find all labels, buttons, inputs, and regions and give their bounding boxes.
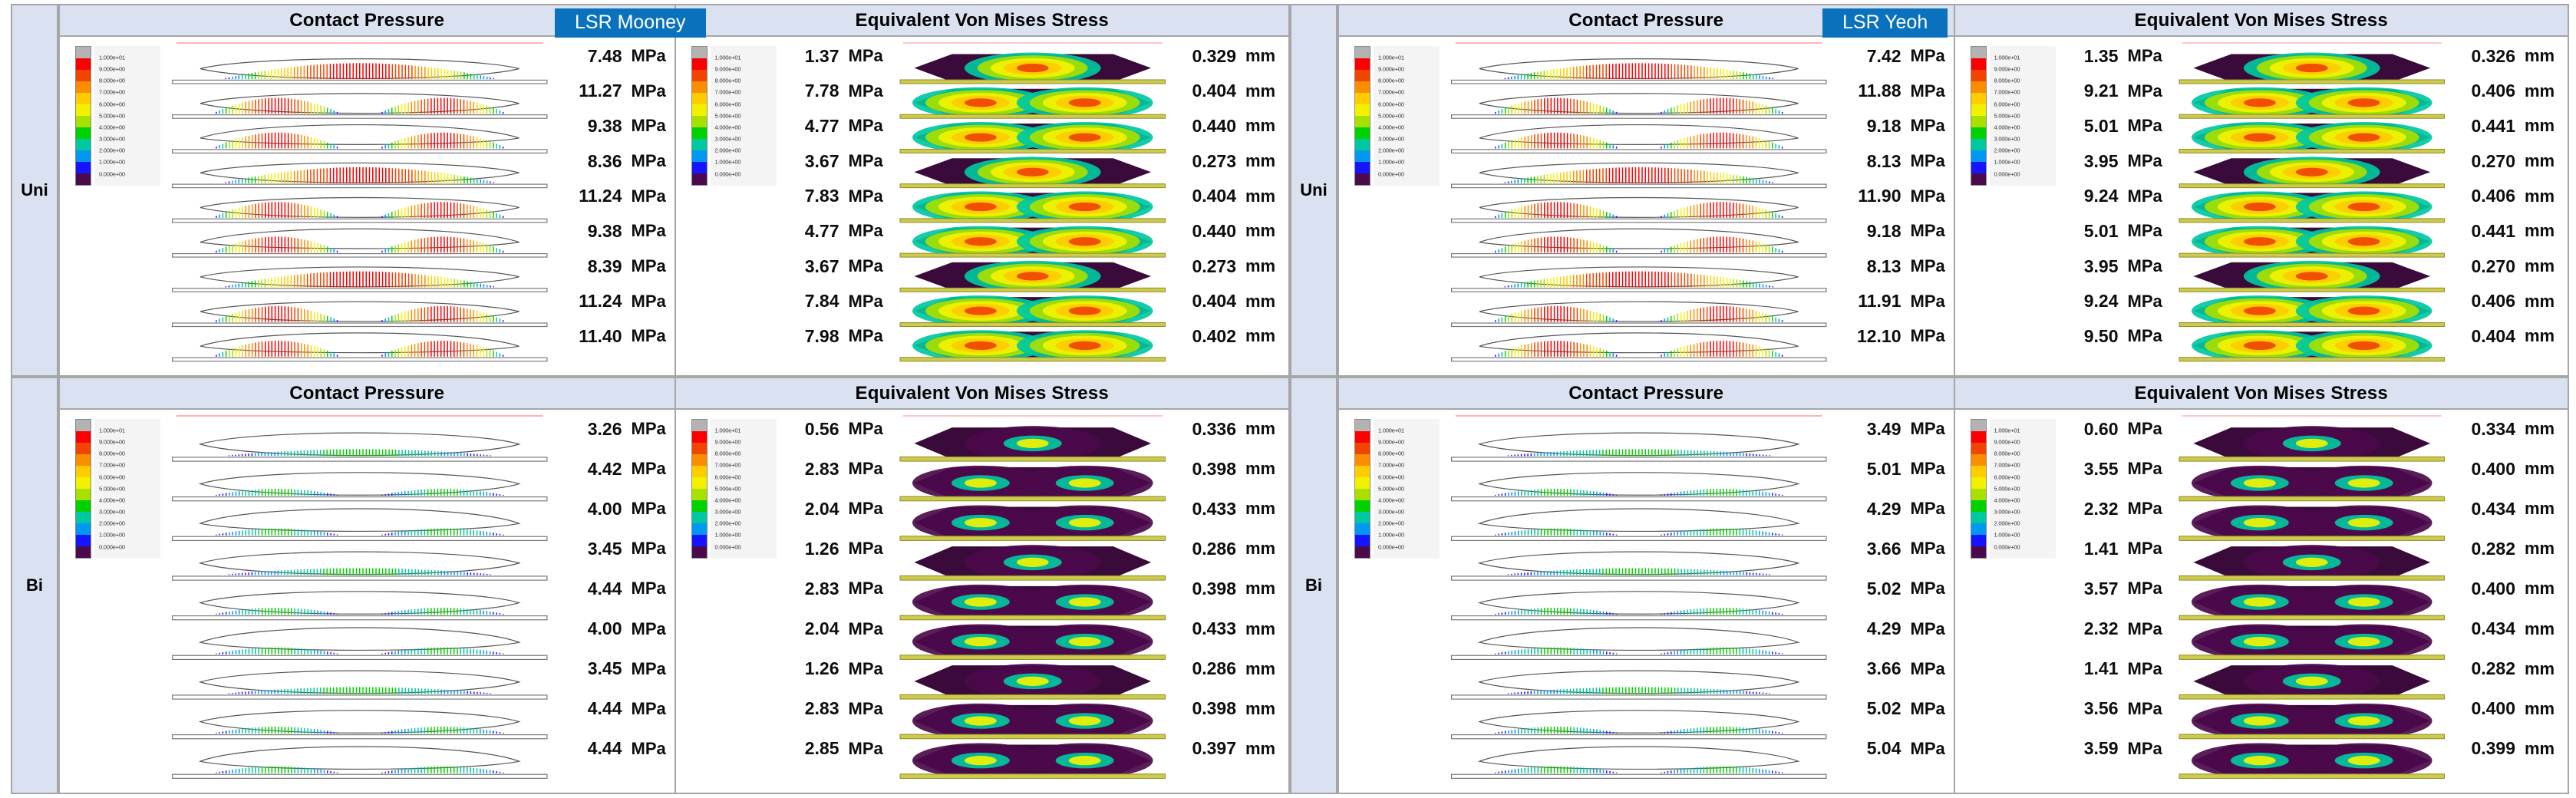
value-unit: MPa bbox=[849, 699, 886, 719]
value-unit: mm bbox=[1245, 292, 1282, 312]
value-row: 4.44MPa bbox=[559, 737, 668, 760]
value-row: 4.29MPa bbox=[1839, 497, 1948, 520]
value-unit: MPa bbox=[1911, 619, 1948, 639]
stress-contour bbox=[964, 597, 996, 606]
value-number: 11.90 bbox=[1846, 186, 1901, 206]
value-number: 5.01 bbox=[2063, 221, 2119, 242]
value-number: 5.01 bbox=[1846, 459, 1901, 480]
plate-bar bbox=[173, 774, 547, 778]
plate-bar bbox=[173, 150, 547, 153]
shim-bar bbox=[2179, 734, 2444, 739]
colorbar-tick: 0.000e+00 bbox=[99, 170, 125, 177]
colorbar-band bbox=[692, 70, 707, 81]
colorbar-band bbox=[76, 489, 91, 500]
value-unit: MPa bbox=[849, 81, 886, 101]
stress-contour bbox=[2347, 756, 2380, 765]
contour-canvas bbox=[1440, 410, 1839, 793]
value-unit: MPa bbox=[1911, 256, 1948, 276]
value-unit: MPa bbox=[632, 459, 668, 479]
value-unit: mm bbox=[2525, 539, 2561, 559]
value-number: 3.57 bbox=[2063, 579, 2119, 599]
subpanel-von-mises-yeoh-bi: 1.000e+019.000e+008.000e+007.000e+006.00… bbox=[1954, 410, 2568, 793]
value-number: 0.334 bbox=[2460, 419, 2515, 440]
value-number: 5.04 bbox=[1846, 738, 1901, 759]
value-number: 0.399 bbox=[2460, 738, 2515, 759]
value-unit: mm bbox=[1245, 659, 1282, 679]
colorbar-band bbox=[76, 47, 91, 58]
value-number: 0.398 bbox=[1181, 459, 1236, 480]
colorbar-tick-labels: 1.000e+019.000e+008.000e+007.000e+006.00… bbox=[94, 46, 160, 186]
seal-outline bbox=[200, 229, 519, 249]
plot-contact-pressure-yeoh-bi bbox=[1440, 410, 1839, 793]
value-unit: MPa bbox=[1911, 659, 1948, 679]
value-row: 0.282mm bbox=[2452, 537, 2561, 560]
colorbar-tick: 4.000e+00 bbox=[1994, 124, 2020, 130]
value-row: 1.41MPa bbox=[2056, 537, 2165, 560]
shim-bar bbox=[900, 114, 1165, 118]
colorbar-band bbox=[1971, 477, 1986, 489]
plate-bar bbox=[1452, 323, 1826, 327]
value-row: 0.404mm bbox=[2452, 325, 2561, 348]
value-number: 4.29 bbox=[1846, 618, 1901, 639]
value-unit: MPa bbox=[632, 579, 668, 598]
value-number: 8.13 bbox=[1846, 151, 1901, 172]
subpanel-contact-pressure-mooney-bi: 1.000e+019.000e+008.000e+007.000e+006.00… bbox=[60, 410, 675, 793]
value-number: 0.329 bbox=[1181, 46, 1236, 67]
shim-bar bbox=[2179, 536, 2444, 541]
value-unit: MPa bbox=[1911, 116, 1948, 136]
colorbar-gradient bbox=[691, 419, 707, 559]
colorbar-band bbox=[1971, 431, 1986, 443]
colorbar-tick: 6.000e+00 bbox=[99, 101, 125, 107]
colorbar-band bbox=[692, 47, 707, 58]
value-unit: MPa bbox=[2128, 46, 2165, 66]
colorbar-band bbox=[76, 443, 91, 454]
value-row: 4.44MPa bbox=[559, 577, 668, 600]
plate-bar bbox=[1452, 457, 1826, 461]
value-unit: mm bbox=[1245, 46, 1282, 66]
stress-contour bbox=[1068, 133, 1100, 141]
colorbar-band bbox=[1971, 466, 1986, 477]
row-label-uni-right-text: Uni bbox=[1300, 180, 1327, 200]
plate-bar bbox=[173, 80, 547, 84]
header-von-mises: Equivalent Von Mises Stress bbox=[1954, 5, 2568, 35]
seal-outline bbox=[200, 302, 519, 322]
value-unit: mm bbox=[1245, 116, 1282, 136]
plate-bar bbox=[173, 358, 547, 361]
panel-body-mooney-uni: 1.000e+019.000e+008.000e+007.000e+006.00… bbox=[60, 37, 1288, 375]
plate-bar bbox=[1452, 774, 1826, 778]
value-number: 11.24 bbox=[567, 291, 622, 312]
value-row: 0.286mm bbox=[1173, 537, 1282, 560]
subpanel-von-mises-mooney-uni: 1.000e+019.000e+008.000e+007.000e+006.00… bbox=[675, 37, 1289, 375]
colorbar-band bbox=[1355, 116, 1370, 127]
stress-contour bbox=[964, 716, 996, 725]
value-row: 5.02MPa bbox=[1839, 697, 1948, 721]
value-unit: mm bbox=[2525, 116, 2561, 136]
subpanel-contact-pressure-mooney-uni: 1.000e+019.000e+008.000e+007.000e+006.00… bbox=[60, 37, 675, 375]
values-von-mises-yeoh-uni: 1.35MPa9.21MPa5.01MPa3.95MPa9.24MPa5.01M… bbox=[2056, 37, 2171, 375]
shim-bar bbox=[900, 575, 1165, 580]
colorbar-tick: 6.000e+00 bbox=[715, 473, 741, 480]
value-row: 0.270mm bbox=[2452, 255, 2561, 278]
colorbar-contact-pressure-yeoh-bi: 1.000e+019.000e+008.000e+007.000e+006.00… bbox=[1339, 410, 1440, 793]
colorbar-band bbox=[1971, 162, 1986, 173]
seal-outline bbox=[1479, 509, 1799, 531]
plate-bar bbox=[173, 289, 547, 292]
value-unit: MPa bbox=[2128, 151, 2165, 171]
value-number: 1.26 bbox=[784, 539, 839, 559]
colorbar-tick: 0.000e+00 bbox=[715, 170, 741, 177]
value-number: 3.56 bbox=[2063, 698, 2119, 719]
colorbar-tick: 2.000e+00 bbox=[715, 520, 741, 527]
colorbar-band bbox=[76, 546, 91, 558]
value-number: 5.01 bbox=[2063, 116, 2119, 137]
colorbar-band bbox=[1971, 546, 1986, 558]
colorbar-band bbox=[692, 104, 707, 116]
shim-bar bbox=[2179, 114, 2444, 118]
colorbar-tick: 3.000e+00 bbox=[1378, 509, 1404, 516]
value-number: 7.78 bbox=[784, 81, 839, 101]
colorbar-band bbox=[1971, 139, 1986, 150]
seal-outline bbox=[200, 747, 519, 769]
colorbar-band bbox=[1355, 93, 1370, 104]
value-row: 5.01MPa bbox=[1839, 457, 1948, 480]
colorbar-tick-labels: 1.000e+019.000e+008.000e+007.000e+006.00… bbox=[711, 46, 777, 186]
colorbar-band bbox=[76, 523, 91, 535]
value-row: 0.282mm bbox=[2452, 658, 2561, 681]
value-row: 4.42MPa bbox=[559, 457, 668, 480]
colorbar-von-mises-mooney-uni: 1.000e+019.000e+008.000e+007.000e+006.00… bbox=[676, 37, 777, 375]
stress-contour bbox=[2243, 637, 2275, 646]
value-row: 2.83MPa bbox=[777, 697, 886, 721]
value-unit: mm bbox=[2525, 619, 2561, 639]
seal-outline bbox=[1479, 229, 1799, 249]
value-row: 12.10MPa bbox=[1839, 325, 1948, 348]
shim-bar bbox=[900, 149, 1165, 153]
colorbar-tick: 8.000e+00 bbox=[715, 450, 741, 457]
panel-grid: Uni Contact Pressure Equivalent Von Mise… bbox=[11, 4, 2569, 794]
plate-bar bbox=[1452, 358, 1826, 361]
value-unit: MPa bbox=[849, 499, 886, 519]
value-unit: MPa bbox=[1911, 739, 1948, 759]
value-number: 0.404 bbox=[2460, 326, 2515, 347]
value-unit: MPa bbox=[632, 659, 668, 679]
value-number: 4.29 bbox=[1846, 499, 1901, 519]
value-row: 0.434mm bbox=[2452, 497, 2561, 520]
value-number: 1.37 bbox=[784, 46, 839, 67]
value-number: 0.441 bbox=[2460, 221, 2515, 242]
value-number: 11.40 bbox=[567, 326, 622, 347]
stress-contour bbox=[964, 307, 996, 315]
value-row: 0.433mm bbox=[1173, 497, 1282, 520]
colorbar-tick: 4.000e+00 bbox=[99, 124, 125, 130]
stress-contour bbox=[2347, 478, 2380, 487]
value-unit: MPa bbox=[849, 151, 886, 171]
value-number: 0.273 bbox=[1181, 256, 1236, 277]
colorbar-tick: 3.000e+00 bbox=[99, 509, 125, 516]
colorbar-band bbox=[1355, 546, 1370, 558]
value-row: 0.397mm bbox=[1173, 737, 1282, 760]
value-unit: MPa bbox=[849, 116, 886, 136]
value-unit: MPa bbox=[2128, 619, 2165, 639]
colorbar-tick: 2.000e+00 bbox=[1994, 147, 2020, 154]
colorbar-gradient bbox=[1971, 419, 1987, 559]
value-row: 7.78MPa bbox=[777, 80, 886, 103]
seal-outline bbox=[1479, 747, 1799, 769]
stress-contour bbox=[964, 478, 996, 487]
stress-contour bbox=[964, 341, 996, 350]
value-number: 9.50 bbox=[2063, 326, 2119, 347]
value-row: 5.01MPa bbox=[2056, 114, 2165, 137]
value-row: 8.13MPa bbox=[1839, 255, 1948, 278]
plate-bar bbox=[173, 655, 547, 659]
value-row: 0.273mm bbox=[1173, 150, 1282, 173]
value-row: 0.400mm bbox=[2452, 457, 2561, 480]
colorbar-tick: 5.000e+00 bbox=[1378, 485, 1404, 492]
value-number: 0.433 bbox=[1181, 499, 1236, 519]
colorbar-tick: 2.000e+00 bbox=[99, 147, 125, 154]
stress-contour bbox=[2347, 518, 2380, 527]
colorbar-band bbox=[1971, 500, 1986, 512]
values-contact-pressure-mooney-bi: 3.26MPa4.42MPa4.00MPa3.45MPa4.44MPa4.00M… bbox=[559, 410, 675, 793]
stress-contour bbox=[1068, 597, 1100, 606]
colorbar-band bbox=[1355, 523, 1370, 535]
colorbar-band bbox=[76, 58, 91, 70]
value-unit: mm bbox=[1245, 699, 1282, 719]
value-row: 0.434mm bbox=[2452, 618, 2561, 641]
model-badge-yeoh[interactable]: LSR Yeoh bbox=[1822, 8, 1948, 38]
value-number: 0.56 bbox=[784, 419, 839, 440]
value-unit: MPa bbox=[632, 499, 668, 519]
value-row: 0.441mm bbox=[2452, 114, 2561, 137]
stress-contour bbox=[2243, 341, 2275, 350]
colorbar-gradient bbox=[75, 419, 91, 559]
shim-bar bbox=[900, 615, 1165, 620]
colorbar-von-mises-yeoh-uni: 1.000e+019.000e+008.000e+007.000e+006.00… bbox=[1955, 37, 2056, 375]
plate-bar bbox=[173, 323, 547, 327]
stress-contour bbox=[964, 98, 996, 107]
colorbar-band bbox=[692, 139, 707, 150]
shim-bar bbox=[900, 358, 1165, 361]
value-unit: mm bbox=[2525, 151, 2561, 171]
colorbar-tick: 7.000e+00 bbox=[99, 89, 125, 96]
value-number: 11.88 bbox=[1846, 81, 1901, 101]
value-unit: MPa bbox=[632, 539, 668, 559]
contour-canvas bbox=[160, 410, 559, 793]
value-unit: mm bbox=[2525, 739, 2561, 759]
seal-outline bbox=[1479, 94, 1799, 114]
colorbar-band bbox=[1971, 47, 1986, 58]
panel-header-mooney-bi: Contact Pressure Equivalent Von Mises St… bbox=[60, 378, 1288, 410]
value-row: 0.400mm bbox=[2452, 697, 2561, 721]
stress-contour bbox=[1016, 677, 1048, 686]
value-unit: MPa bbox=[1911, 459, 1948, 479]
contour-canvas bbox=[892, 410, 1174, 793]
value-unit: mm bbox=[2525, 256, 2561, 276]
value-number: 11.91 bbox=[1846, 291, 1901, 312]
value-number: 0.273 bbox=[1181, 151, 1236, 172]
value-number: 5.02 bbox=[1846, 698, 1901, 719]
panel-mooney-uni: Contact Pressure Equivalent Von Mises St… bbox=[58, 4, 1290, 377]
colorbar-tick: 5.000e+00 bbox=[99, 485, 125, 492]
value-number: 0.270 bbox=[2460, 256, 2515, 277]
plate-bar bbox=[1452, 289, 1826, 292]
value-number: 0.270 bbox=[2460, 151, 2515, 172]
value-row: 11.90MPa bbox=[1839, 185, 1948, 208]
value-unit: MPa bbox=[849, 292, 886, 312]
value-unit: mm bbox=[2525, 186, 2561, 206]
value-number: 3.95 bbox=[2063, 256, 2119, 277]
colorbar-band bbox=[692, 546, 707, 558]
value-unit: MPa bbox=[2128, 739, 2165, 759]
shim-bar bbox=[2179, 694, 2444, 699]
value-unit: mm bbox=[2525, 221, 2561, 241]
seal-outline bbox=[200, 198, 519, 218]
value-unit: MPa bbox=[849, 459, 886, 479]
colorbar-tick: 1.000e+01 bbox=[715, 427, 741, 434]
value-unit: MPa bbox=[632, 221, 668, 241]
value-unit: MPa bbox=[2128, 116, 2165, 136]
colorbar-tick: 7.000e+00 bbox=[715, 462, 741, 469]
stress-contour bbox=[1068, 716, 1100, 725]
colorbar-tick: 5.000e+00 bbox=[1994, 485, 2020, 492]
stress-contour bbox=[2347, 133, 2380, 141]
stress-contour bbox=[2243, 203, 2275, 211]
colorbar-tick: 4.000e+00 bbox=[1378, 496, 1404, 503]
model-badge-mooney[interactable]: LSR Mooney bbox=[555, 8, 706, 38]
shim-bar bbox=[900, 253, 1165, 257]
colorbar-band bbox=[1971, 420, 1986, 431]
contour-canvas bbox=[2171, 37, 2453, 375]
colorbar-tick: 1.000e+00 bbox=[715, 159, 741, 166]
value-row: 4.77MPa bbox=[777, 219, 886, 242]
colorbar-band bbox=[76, 454, 91, 466]
colorbar-tick: 1.000e+00 bbox=[99, 159, 125, 166]
value-row: 2.83MPa bbox=[777, 457, 886, 480]
value-number: 0.440 bbox=[1181, 116, 1236, 137]
colorbar-band bbox=[1971, 523, 1986, 535]
stress-contour bbox=[964, 133, 996, 141]
row-label-bi-right: Bi bbox=[1290, 377, 1337, 794]
value-row: 3.57MPa bbox=[2056, 577, 2165, 600]
colorbar-tick: 1.000e+00 bbox=[1378, 532, 1404, 539]
value-row: 9.50MPa bbox=[2056, 325, 2165, 348]
value-number: 3.67 bbox=[784, 256, 839, 277]
value-unit: mm bbox=[1245, 419, 1282, 439]
value-row: 1.26MPa bbox=[777, 537, 886, 560]
value-row: 0.440mm bbox=[1173, 114, 1282, 137]
colorbar-band bbox=[76, 535, 91, 546]
figure-root: Uni Contact Pressure Equivalent Von Mise… bbox=[0, 0, 2576, 798]
value-unit: MPa bbox=[632, 186, 668, 206]
value-unit: MPa bbox=[1911, 419, 1948, 439]
value-unit: mm bbox=[2525, 81, 2561, 101]
shim-bar bbox=[900, 184, 1165, 188]
value-row: 9.38MPa bbox=[559, 114, 668, 137]
value-unit: mm bbox=[2525, 659, 2561, 679]
colorbar-band bbox=[1971, 127, 1986, 139]
value-row: 2.32MPa bbox=[2056, 497, 2165, 520]
value-row: 2.04MPa bbox=[777, 618, 886, 641]
value-row: 0.406mm bbox=[2452, 185, 2561, 208]
value-row: 0.404mm bbox=[1173, 290, 1282, 313]
value-unit: MPa bbox=[849, 619, 886, 639]
value-number: 4.00 bbox=[567, 618, 622, 639]
values-contact-pressure-yeoh-uni: 7.42MPa11.88MPa9.18MPa8.13MPa11.90MPa9.1… bbox=[1839, 37, 1954, 375]
value-number: 0.404 bbox=[1181, 186, 1236, 206]
value-number: 0.441 bbox=[2460, 116, 2515, 137]
value-number: 12.10 bbox=[1846, 326, 1901, 347]
seal-outline bbox=[200, 333, 519, 353]
value-row: 0.398mm bbox=[1173, 577, 1282, 600]
colorbar-tick: 6.000e+00 bbox=[1994, 473, 2020, 480]
colorbar-band bbox=[692, 116, 707, 127]
colorbar-tick: 3.000e+00 bbox=[715, 509, 741, 516]
value-number: 2.83 bbox=[784, 459, 839, 480]
value-number: 0.406 bbox=[2460, 291, 2515, 312]
shim-bar bbox=[2179, 149, 2444, 153]
value-row: 0.404mm bbox=[1173, 185, 1282, 208]
colorbar-band bbox=[1355, 500, 1370, 512]
shim-bar bbox=[2179, 80, 2444, 84]
value-unit: MPa bbox=[2128, 292, 2165, 312]
colorbar-band bbox=[692, 93, 707, 104]
value-number: 2.32 bbox=[2063, 618, 2119, 639]
value-number: 2.83 bbox=[784, 579, 839, 599]
value-row: 3.45MPa bbox=[559, 537, 668, 560]
value-number: 8.39 bbox=[567, 256, 622, 277]
colorbar-tick: 5.000e+00 bbox=[715, 112, 741, 119]
contour-canvas bbox=[160, 37, 559, 375]
shim-bar bbox=[900, 288, 1165, 292]
colorbar-tick: 1.000e+01 bbox=[1994, 54, 2020, 61]
value-row: 3.95MPa bbox=[2056, 150, 2165, 173]
value-number: 0.286 bbox=[1181, 539, 1236, 559]
value-row: 3.49MPa bbox=[1839, 417, 1948, 440]
value-row: 7.98MPa bbox=[777, 325, 886, 348]
value-unit: mm bbox=[1245, 459, 1282, 479]
value-number: 11.27 bbox=[567, 81, 622, 101]
colorbar-tick: 0.000e+00 bbox=[1994, 170, 2020, 177]
colorbar-tick-labels: 1.000e+019.000e+008.000e+007.000e+006.00… bbox=[94, 419, 160, 559]
value-unit: MPa bbox=[632, 419, 668, 439]
value-row: 0.440mm bbox=[1173, 219, 1282, 242]
colorbar-tick: 7.000e+00 bbox=[715, 89, 741, 96]
row-label-bi: Bi bbox=[11, 377, 58, 794]
value-number: 0.398 bbox=[1181, 698, 1236, 719]
value-unit: mm bbox=[1245, 221, 1282, 241]
value-row: 11.24MPa bbox=[559, 185, 668, 208]
colorbar-band bbox=[76, 466, 91, 477]
header-contact-pressure: Contact Pressure bbox=[60, 378, 675, 408]
colorbar-tick: 6.000e+00 bbox=[1994, 101, 2020, 107]
plate-bar bbox=[1452, 219, 1826, 223]
colorbar-tick: 9.000e+00 bbox=[1994, 439, 2020, 446]
value-row: 3.67MPa bbox=[777, 255, 886, 278]
value-number: 0.434 bbox=[2460, 618, 2515, 639]
value-unit: MPa bbox=[1911, 81, 1948, 101]
plate-bar bbox=[1452, 80, 1826, 84]
seal-outline bbox=[200, 94, 519, 114]
colorbar-band bbox=[1355, 139, 1370, 150]
plate-bar bbox=[173, 457, 547, 461]
colorbar-tick: 2.000e+00 bbox=[1378, 520, 1404, 527]
value-row: 3.95MPa bbox=[2056, 255, 2165, 278]
colorbar-tick-labels: 1.000e+019.000e+008.000e+007.000e+006.00… bbox=[1374, 419, 1440, 559]
colorbar-tick: 0.000e+00 bbox=[1378, 543, 1404, 550]
colorbar-tick: 4.000e+00 bbox=[715, 496, 741, 503]
